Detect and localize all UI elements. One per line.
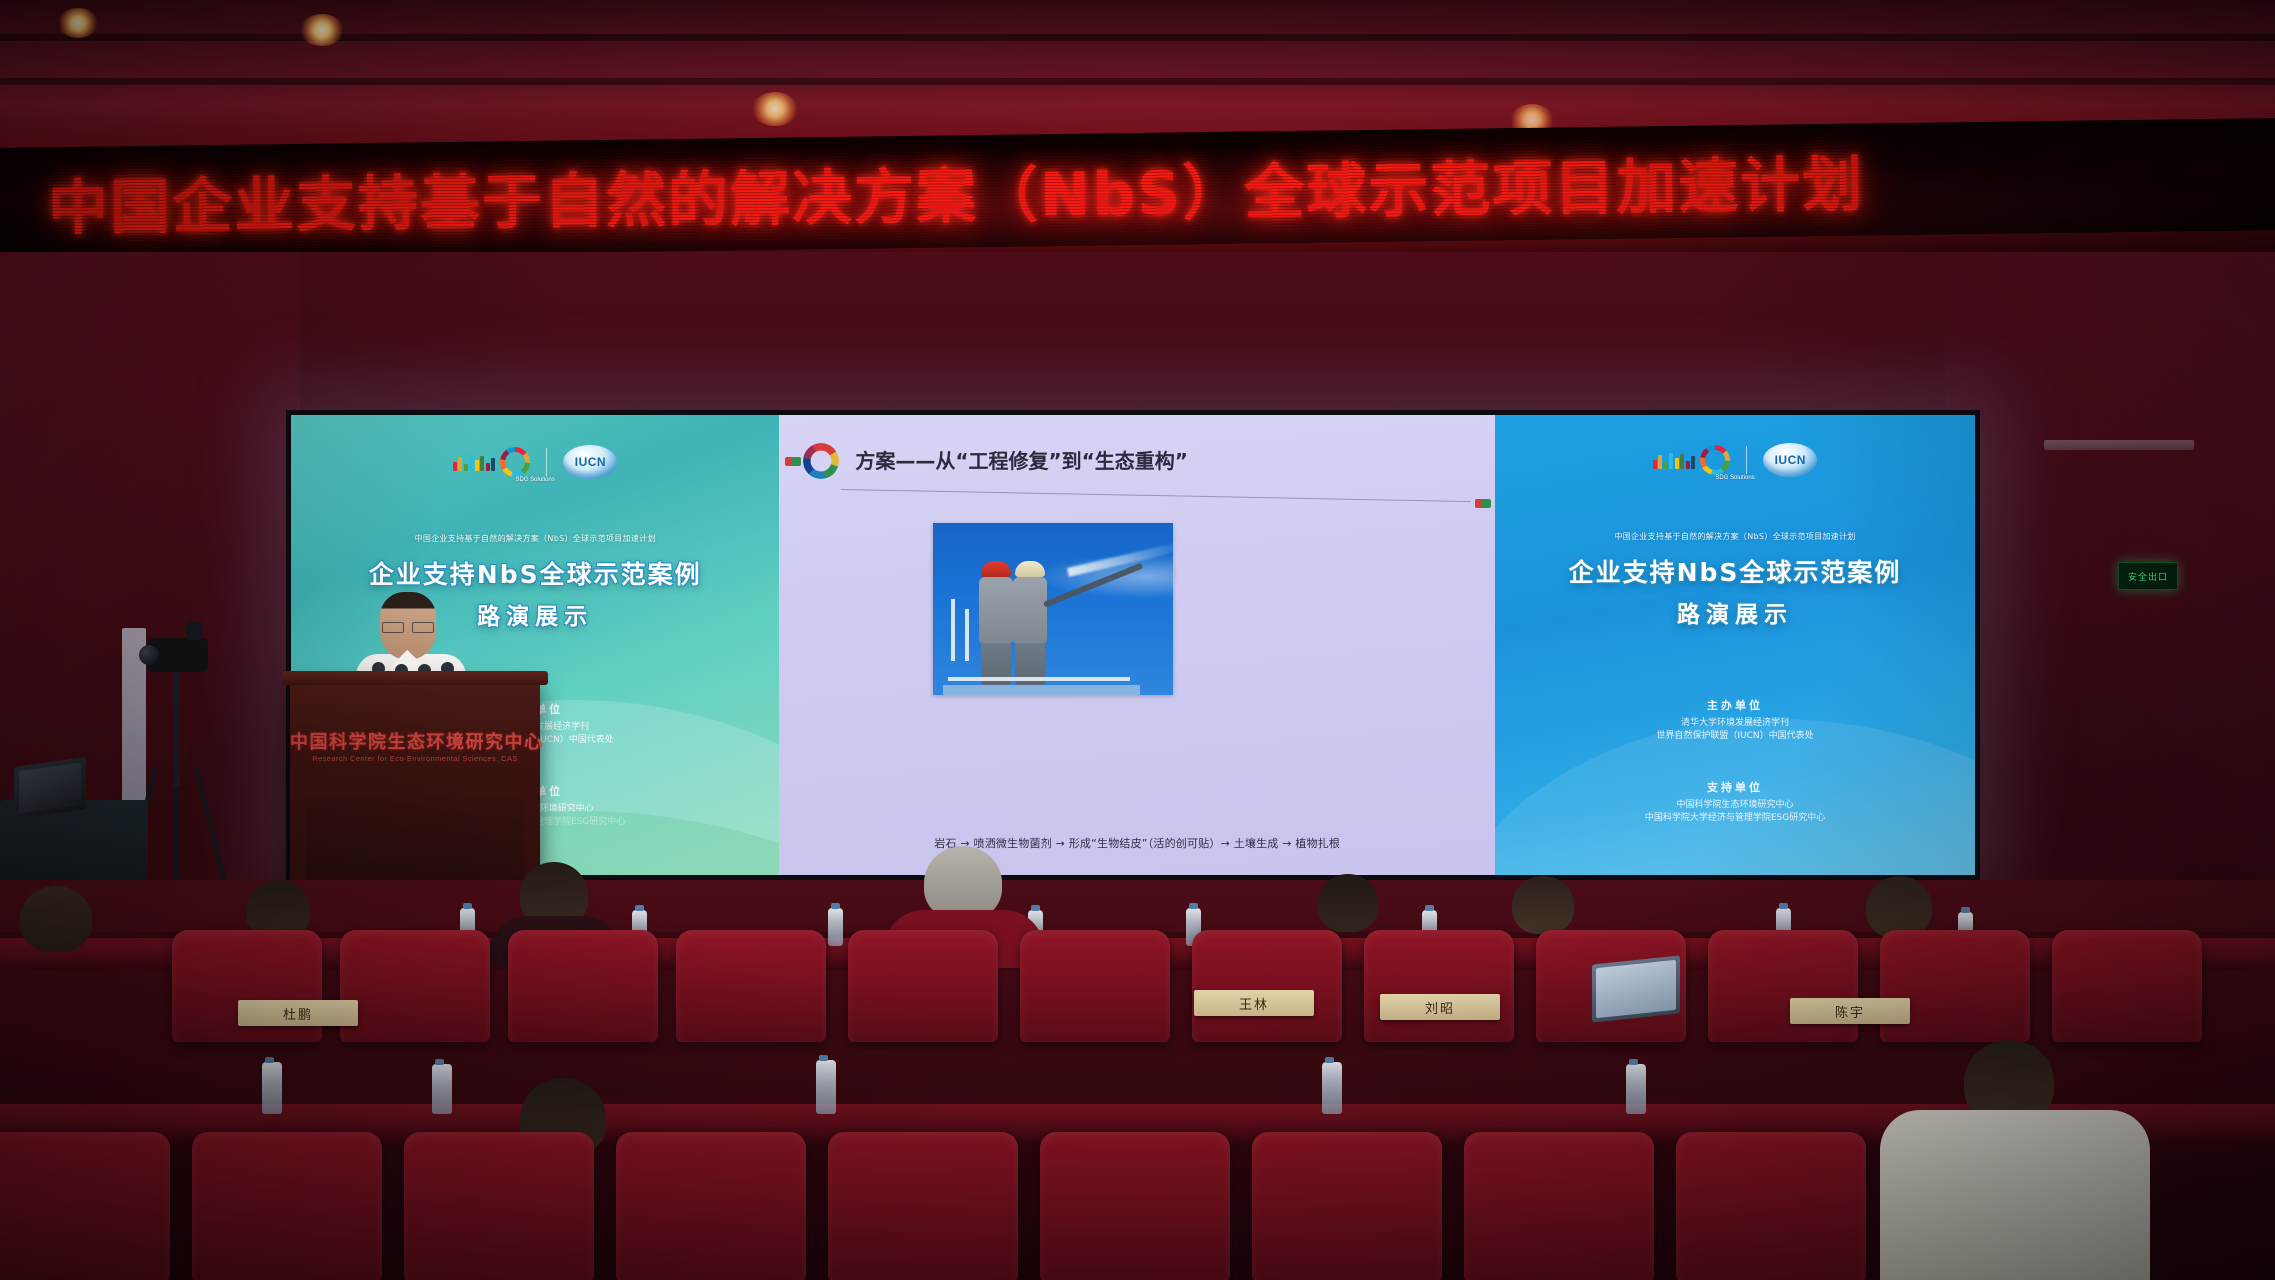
seat [848,930,998,1042]
wall-light-strip [2044,440,2194,450]
left-panel-title-1: 企业支持NbS全球示范案例 [291,555,779,591]
placard-name: 刘昭 [1425,998,1455,1017]
seat [2052,930,2202,1042]
seat [192,1132,382,1280]
seat [340,930,490,1042]
exit-sign-label: 安全出口 [2128,570,2168,583]
water-bottle [816,1060,836,1114]
seat [1020,930,1170,1042]
seat [508,930,658,1042]
slide-marker-right [1475,499,1491,508]
exit-sign: 安全出口 [2118,562,2178,590]
camera-icon [148,638,208,672]
seat [1464,1132,1654,1280]
sdg-solutions-logo [453,447,531,477]
placard-name: 王林 [1239,994,1269,1013]
slide-marker-left [785,457,801,466]
water-bottle [262,1062,282,1114]
red-hardhat-icon [981,561,1011,577]
seat [616,1132,806,1280]
ceiling-light [58,8,98,38]
worker-white-helmet [1013,561,1047,685]
left-panel-subtitle: 中国企业支持基于自然的解决方案（NbS）全球示范项目加速计划 [291,533,779,544]
right-panel-organizers: 主办单位 清华大学环境发展经济学刊 世界自然保护联盟（IUCN）中国代表处 [1495,697,1975,743]
slide-ring-icon [803,443,839,479]
desk-edge [0,1098,2275,1104]
organizer-heading: 主办单位 [1495,697,1975,713]
screen-right-panel: IUCN SDG Solutions 中国企业支持基于自然的解决方案（NbS）全… [1495,415,1975,875]
organizer-line: 世界自然保护联盟（IUCN）中国代表处 [1495,730,1975,743]
sdg-ring-icon [500,447,530,477]
slide-photo [933,523,1173,695]
iucn-logo: IUCN [1763,443,1817,477]
seat [1676,1132,1866,1280]
audience-head [1866,876,1932,938]
slide-title: 方案——从“工程修复”到“生态重构” [855,445,1188,474]
right-panel-subtitle: 中国企业支持基于自然的解决方案（NbS）全球示范项目加速计划 [1495,531,1975,542]
support-heading: 支持单位 [1495,779,1975,795]
support-line: 中国科学院生态环境研究中心 [1495,799,1975,812]
right-panel-title-1: 企业支持NbS全球示范案例 [1495,553,1975,589]
worker-red-helmet [979,561,1013,685]
sdg-logo-caption: SDG Solutions [1495,475,1975,482]
seat [676,930,826,1042]
projection-screen: IUCN SDG Solutions 中国企业支持基于自然的解决方案（NbS）全… [286,410,1980,880]
sdg-solutions-logo [1653,445,1731,475]
white-hardhat-icon [1015,561,1045,577]
name-placard: 陈宇 [1790,998,1910,1024]
seat [1708,930,1858,1042]
right-panel-title-2: 路演展示 [1495,595,1975,629]
seat [0,1132,170,1280]
podium-name-cn: 中国科学院生态环境研究中心 [290,728,540,754]
ceiling-light [752,92,798,126]
audience-head [924,846,1002,920]
sdg-logo-caption: SDG Solutions [291,477,779,484]
audience-laptop[interactable] [1592,955,1680,1022]
screen-center-slide: 方案——从“工程修复”到“生态重构” [779,415,1495,875]
name-placard: 王林 [1194,990,1314,1016]
glasses-icon [382,622,434,631]
seat [404,1132,594,1280]
placard-name: 陈宇 [1835,1002,1865,1021]
slide-caption: 岩石 → 喷洒微生物菌剂 → 形成“生物结皮”（活的创可贴）→ 土壤生成 → 植… [779,835,1495,851]
ceiling-light [300,14,344,46]
audience-head [20,886,92,952]
placard-name: 杜鹏 [283,1004,313,1023]
right-wall-panel [1945,252,2275,952]
logo-divider [546,448,547,476]
organizer-line: 清华大学环境发展经济学刊 [1495,717,1975,730]
control-laptop[interactable] [14,757,86,819]
slide-divider [841,489,1471,502]
sdg-ring-icon [1700,445,1730,475]
conference-hall-photo: 中国企业支持基于自然的解决方案（NbS）全球示范项目加速计划 安全出口 [0,0,2275,1280]
seat [1040,1132,1230,1280]
audience-head [1318,874,1378,932]
right-panel-supporters: 支持单位 中国科学院生态环境研究中心 中国科学院大学经济与管理学院ESG研究中心 [1495,779,1975,825]
water-bottle [1626,1064,1646,1114]
support-line: 中国科学院大学经济与管理学院ESG研究中心 [1495,812,1975,825]
seat [1252,1132,1442,1280]
seat [1192,930,1342,1042]
seat [1364,930,1514,1042]
logo-divider [1746,446,1747,474]
seat [1880,930,2030,1042]
water-bottle [432,1064,452,1114]
audience-head [1512,876,1574,934]
water-bottle [1322,1062,1342,1114]
water-bottle [828,908,843,946]
name-placard: 杜鹏 [238,1000,358,1026]
audience-head [542,870,550,878]
led-banner-text: 中国企业支持基于自然的解决方案（NbS）全球示范项目加速计划 [47,136,1864,247]
audience-shoulders [1880,1110,2150,1280]
podium-name-en: Research Center for Eco-Environmental Sc… [290,754,540,763]
seat [828,1132,1018,1280]
iucn-logo: IUCN [563,445,617,479]
name-placard: 刘昭 [1380,994,1500,1020]
